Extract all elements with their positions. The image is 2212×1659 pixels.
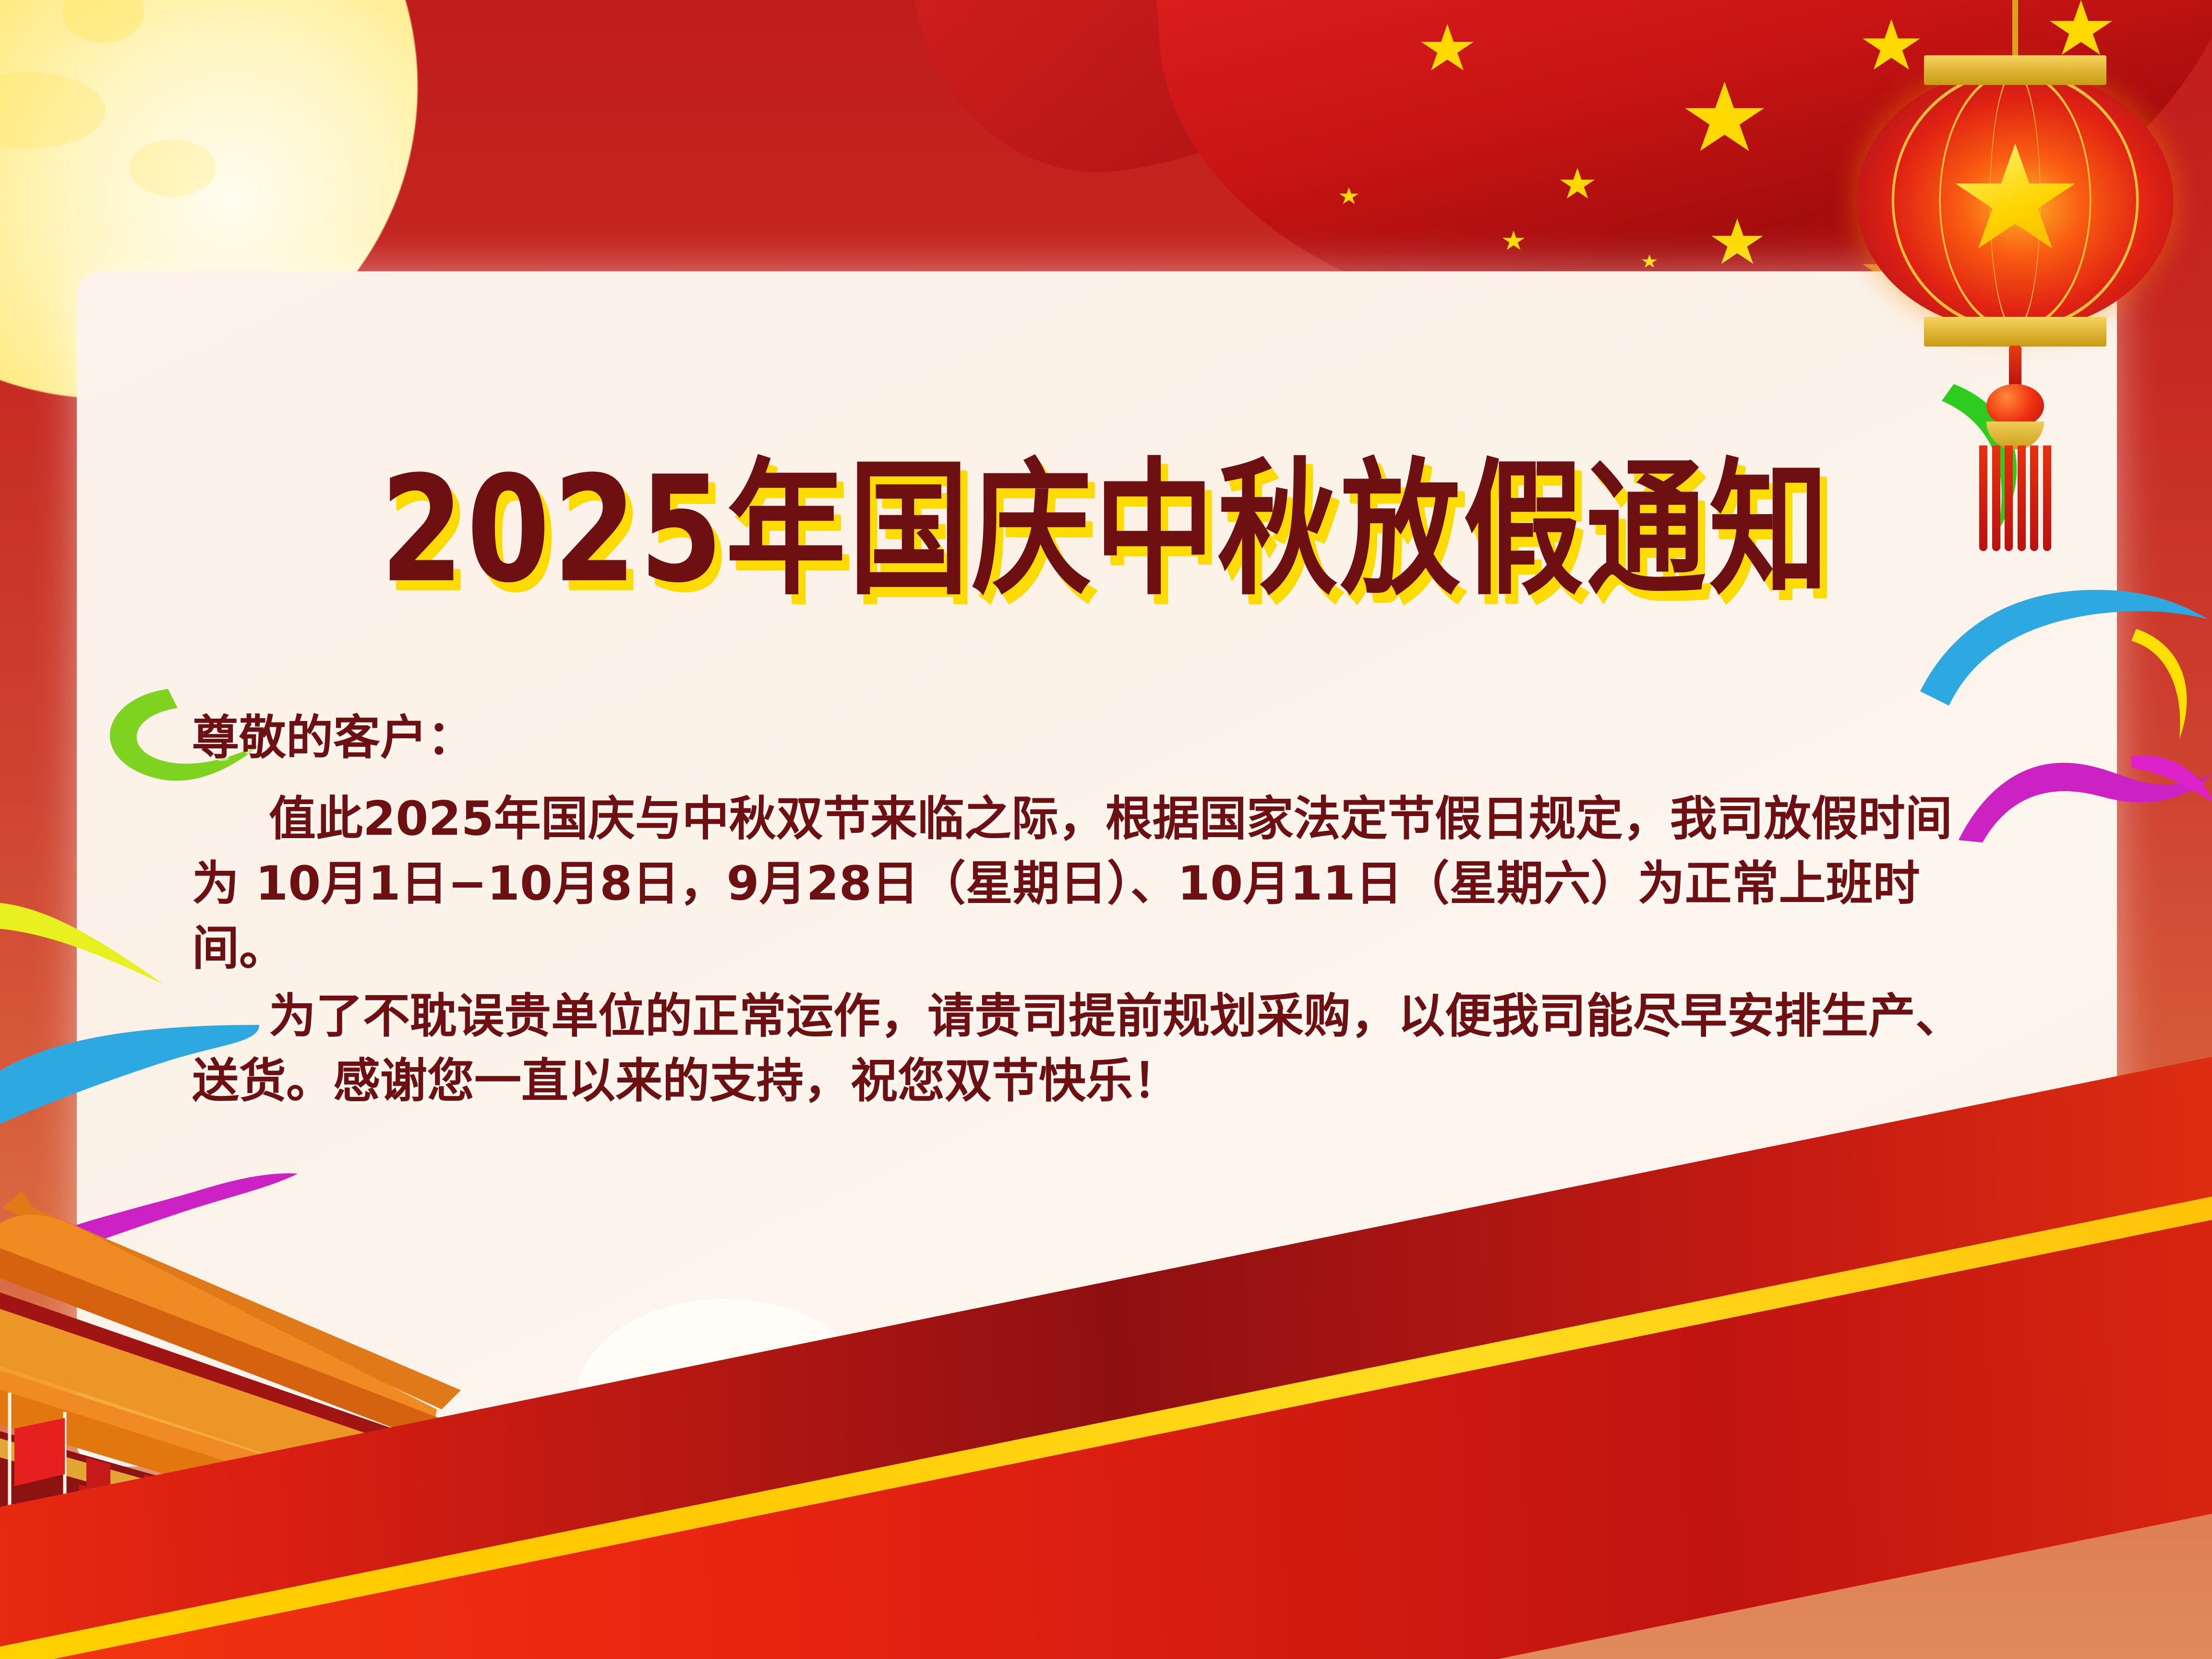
notice-body: 尊敬的客户： 值此2025年国庆与中秋双节来临之际，根据国家法定节假日规定，我司…: [192, 706, 1978, 1117]
lantern-cord: [2012, 0, 2018, 58]
lantern-top-bar: [1924, 55, 2106, 85]
holiday-notice-poster: 2025年国庆中秋放假通知 尊敬的客户： 值此2025年国庆与中秋双节来临之际，…: [0, 0, 2212, 1659]
lantern-neck: [2009, 346, 2021, 389]
confetti-ribbon-magenta-right-2: [2131, 749, 2212, 806]
confetti-ribbon-yellow-left: [0, 893, 197, 998]
paragraph-2: 为了不耽误贵单位的正常运作，请贵司提前规划采购，以便我司能尽早安排生产、送货。感…: [192, 984, 1978, 1114]
lantern-bead: [1986, 384, 2044, 427]
salutation-line: 尊敬的客户：: [192, 706, 1978, 770]
confetti-ribbon-yellow-right: [2127, 624, 2212, 744]
page-title: 2025年国庆中秋放假通知: [380, 410, 1832, 623]
paragraph-1: 值此2025年国庆与中秋双节来临之际，根据国家法定节假日规定，我司放假时间为 1…: [192, 787, 1978, 981]
lantern-bottom-bar: [1924, 317, 2106, 347]
lantern-body: [1857, 70, 2174, 331]
lantern-tassel: [1979, 445, 2051, 551]
poster-title-wrapper: 2025年国庆中秋放假通知: [0, 410, 2212, 584]
